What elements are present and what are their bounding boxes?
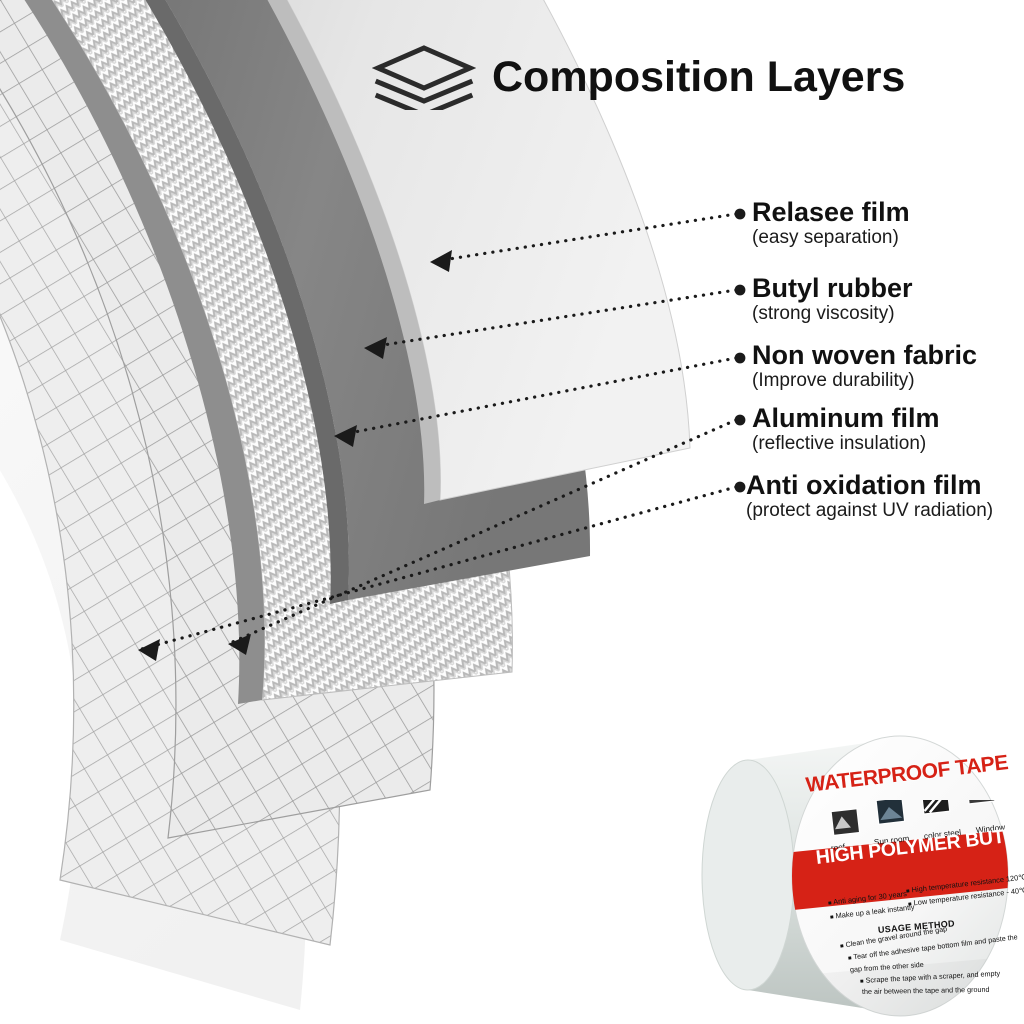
leader-bullets bbox=[735, 209, 746, 493]
callout-relasee-film: Relasee film (easy separation) bbox=[752, 198, 910, 249]
bullet-nonwoven bbox=[735, 353, 746, 364]
callout-title: Relasee film bbox=[752, 198, 910, 227]
callout-subtitle: (reflective insulation) bbox=[752, 434, 940, 455]
page-title-text: Composition Layers bbox=[492, 56, 905, 99]
bullet-aluminum bbox=[735, 415, 746, 426]
callout-subtitle: (strong viscosity) bbox=[752, 304, 913, 325]
bullet-butyl bbox=[735, 285, 746, 296]
callout-non-woven-fabric: Non woven fabric (Improve durability) bbox=[752, 341, 977, 392]
callout-aluminum-film: Aluminum film (reflective insulation) bbox=[752, 404, 940, 455]
callout-title: Aluminum film bbox=[752, 404, 940, 433]
bullet-antiox bbox=[735, 482, 746, 493]
callout-subtitle: (protect against UV radiation) bbox=[746, 501, 993, 522]
callout-butyl-rubber: Butyl rubber (strong viscosity) bbox=[752, 274, 913, 325]
product-tape-roll: WATERPROOF TAPE roof Sun room color stee… bbox=[688, 726, 1024, 1024]
callout-title: Anti oxidation film bbox=[746, 471, 993, 500]
composition-layers-infographic: Composition Layers Relasee film (easy se… bbox=[0, 0, 1024, 1024]
layers-stack-icon bbox=[372, 44, 476, 110]
bullet-relasee bbox=[735, 209, 746, 220]
callout-subtitle: (Improve durability) bbox=[752, 371, 977, 392]
callout-title: Butyl rubber bbox=[752, 274, 913, 303]
page-title: Composition Layers bbox=[372, 44, 905, 110]
callout-anti-oxidation-film: Anti oxidation film (protect against UV … bbox=[746, 471, 993, 522]
callout-subtitle: (easy separation) bbox=[752, 228, 910, 249]
callout-title: Non woven fabric bbox=[752, 341, 977, 370]
